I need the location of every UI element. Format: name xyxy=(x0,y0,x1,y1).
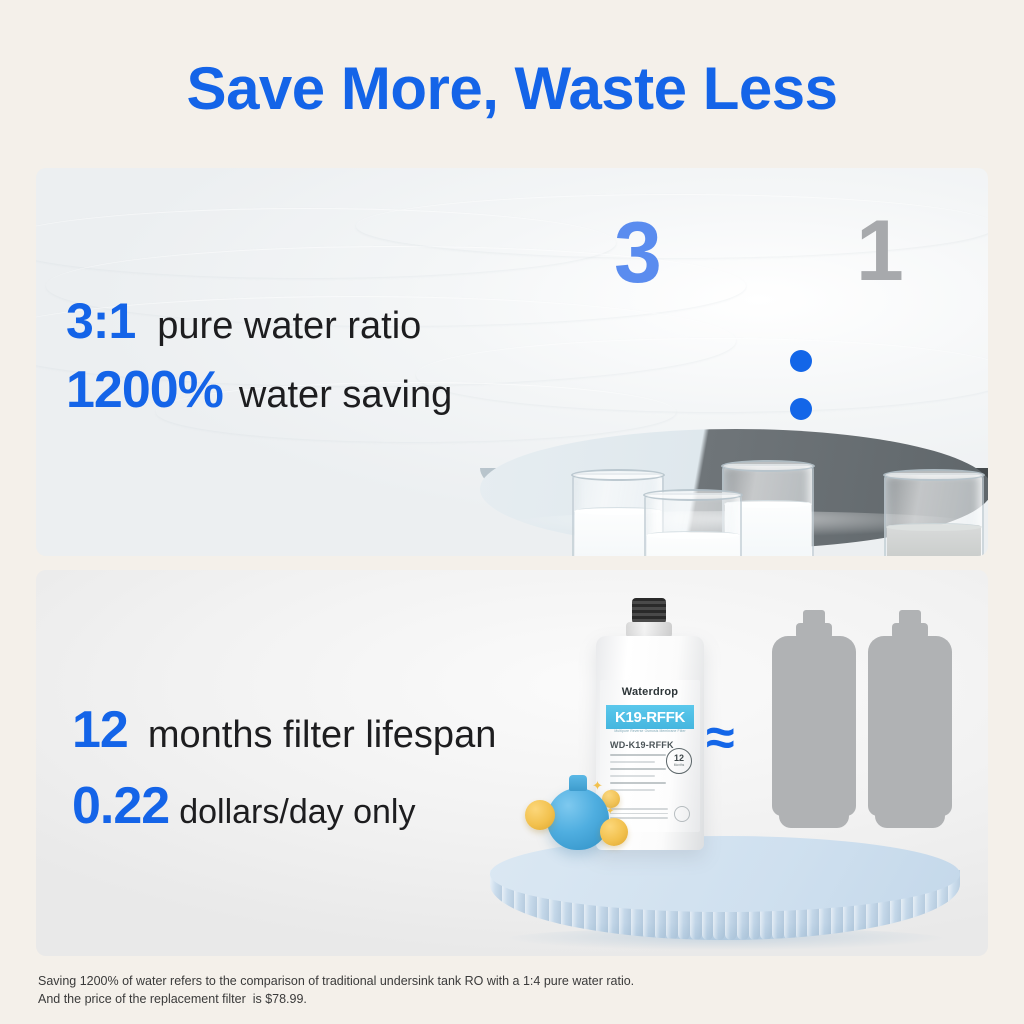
badge-unit: Months xyxy=(674,764,684,767)
stat-row: 1200% water saving xyxy=(66,360,452,420)
disclaimer: Saving 1200% of water refers to the comp… xyxy=(38,972,938,1008)
stat-label: dollars/day only xyxy=(179,793,415,832)
model-code: WD-K19-RFFK xyxy=(610,740,674,750)
brand-name: Waterdrop xyxy=(600,686,700,698)
stats-filter-lifespan: 12 months filter lifespan 0.22 dollars/d… xyxy=(72,700,496,836)
stat-value: 3:1 xyxy=(66,292,135,350)
stat-value: 12 xyxy=(72,700,128,760)
stat-row: 12 months filter lifespan xyxy=(72,700,496,760)
lifespan-badge: 12 Months xyxy=(666,748,692,774)
model-band: K19-RFFK xyxy=(606,705,694,729)
ratio-numeral-pure: 3 xyxy=(614,210,660,296)
infographic-page: Save More, Waste Less 3 1 xyxy=(0,0,1024,1024)
page-title: Save More, Waste Less xyxy=(0,56,1024,122)
coin-icon xyxy=(525,800,555,830)
stat-value: 0.22 xyxy=(72,776,169,836)
sparkle-icon: ✦ xyxy=(606,806,614,817)
stat-label: months filter lifespan xyxy=(148,714,497,757)
model-band-text: K19-RFFK xyxy=(615,709,685,726)
badge-value: 12 xyxy=(674,754,684,763)
cartridge-label: Waterdrop K19-RFFK Multipure Reverse Osm… xyxy=(600,680,700,832)
approximately-equal-icon: ≈ xyxy=(706,712,735,764)
band-subtitle: Multipure Reverse Osmosis Membrane Filte… xyxy=(606,729,694,733)
podium-top-surface xyxy=(490,836,960,912)
stat-row: 0.22 dollars/day only xyxy=(72,776,496,836)
ratio-numeral-waste: 1 xyxy=(856,208,902,294)
certification-seal-icon xyxy=(674,806,690,822)
stat-row: 3:1 pure water ratio xyxy=(66,292,452,350)
legacy-filter-silhouette xyxy=(772,610,856,840)
sparkle-icon: ✦ xyxy=(592,778,603,794)
ratio-colon-dot-icon xyxy=(790,398,812,420)
cartridge-cap-icon xyxy=(632,598,666,624)
money-bag-icon xyxy=(547,788,609,850)
stat-label: pure water ratio xyxy=(157,305,421,348)
clear-water-glass xyxy=(644,493,742,556)
disclaimer-line-1: Saving 1200% of water refers to the comp… xyxy=(38,972,938,990)
legacy-filter-silhouette xyxy=(868,610,952,840)
ratio-colon-dot-icon xyxy=(790,350,812,372)
label-spec-lines xyxy=(610,754,666,796)
stat-label: water saving xyxy=(239,374,452,417)
stat-value: 1200% xyxy=(66,360,223,420)
disclaimer-line-2: And the price of the replacement filter … xyxy=(38,990,938,1008)
coin-icon xyxy=(600,818,628,846)
waste-water-glass xyxy=(884,473,984,556)
stats-water-ratio: 3:1 pure water ratio 1200% water saving xyxy=(66,292,452,420)
